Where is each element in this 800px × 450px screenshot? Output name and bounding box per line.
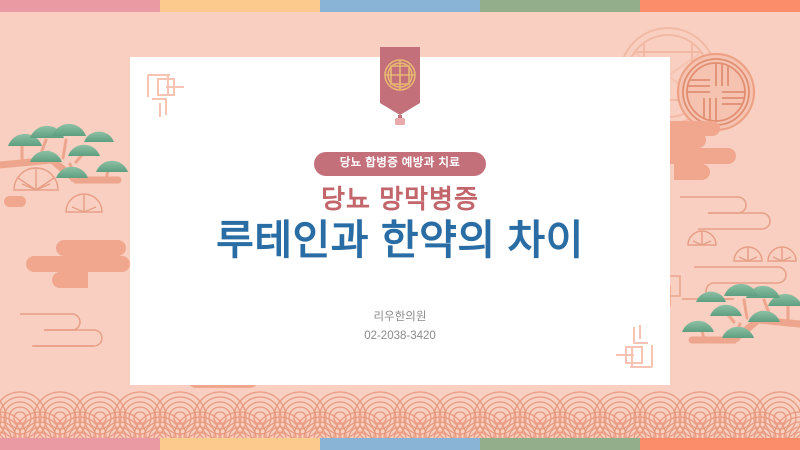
- status-badge: 당뇨 합병증 예방과 치료: [314, 152, 487, 176]
- stripe-rose: [0, 0, 160, 12]
- subtitle: 당뇨 망막병증: [321, 185, 479, 215]
- clinic-phone: 02-2038-3420: [364, 327, 436, 346]
- clinic-name: 리우한의원: [364, 308, 436, 327]
- bottom-stripe-bar: [0, 438, 800, 450]
- stripe-blue: [320, 0, 480, 12]
- page-title: 루테인과 한약의 차이: [216, 217, 584, 264]
- clinic-footer: 리우한의원 02-2038-3420: [364, 308, 436, 346]
- stripe-green: [480, 438, 640, 450]
- pine-branch-right-icon: [660, 278, 800, 386]
- stripe-green: [480, 0, 640, 12]
- cloud-left-icon: [0, 234, 130, 294]
- poster-canvas: 당뇨 합병증 예방과 치료 당뇨 망막병증 루테인과 한약의 차이 리우한의원 …: [0, 0, 800, 450]
- stripe-orange: [640, 0, 800, 12]
- pine-branch-left-icon: [0, 118, 150, 226]
- cloud-line-left-icon: [14, 300, 134, 360]
- top-stripe-bar: [0, 0, 800, 12]
- stripe-rose: [0, 438, 160, 450]
- seigaiha-wave-band: [0, 382, 800, 438]
- stripe-peach: [160, 438, 320, 450]
- stripe-peach: [160, 0, 320, 12]
- banner-medallion: [378, 47, 422, 125]
- stripe-orange: [640, 438, 800, 450]
- title-accent-dot: [4, 196, 26, 207]
- stripe-blue: [320, 438, 480, 450]
- seigaiha-wave-icon: [0, 382, 800, 438]
